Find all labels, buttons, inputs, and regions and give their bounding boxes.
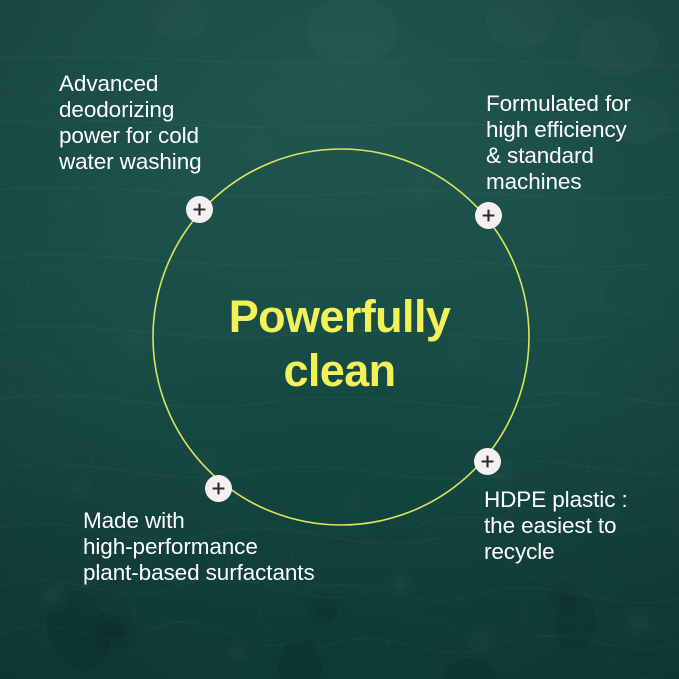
plus-icon: [205, 475, 232, 502]
callout-plant-based-surfactants: Made with high-performance plant-based s…: [83, 508, 383, 586]
marker-top-right[interactable]: [475, 202, 502, 229]
marker-bottom-right[interactable]: [474, 448, 501, 475]
callout-high-efficiency-machines: Formulated for high efficiency & standar…: [486, 91, 676, 195]
callout-cold-water-washing: Advanced deodorizing power for cold wate…: [59, 71, 274, 175]
infographic-canvas: Powerfully clean Advanced deodorizing po…: [0, 0, 679, 679]
marker-bottom-left[interactable]: [205, 475, 232, 502]
plus-icon: [186, 196, 213, 223]
page-title: Powerfully clean: [0, 290, 679, 398]
marker-top-left[interactable]: [186, 196, 213, 223]
plus-icon: [475, 202, 502, 229]
plus-icon: [474, 448, 501, 475]
callout-hdpe-recycling: HDPE plastic : the easiest to recycle: [484, 487, 679, 565]
